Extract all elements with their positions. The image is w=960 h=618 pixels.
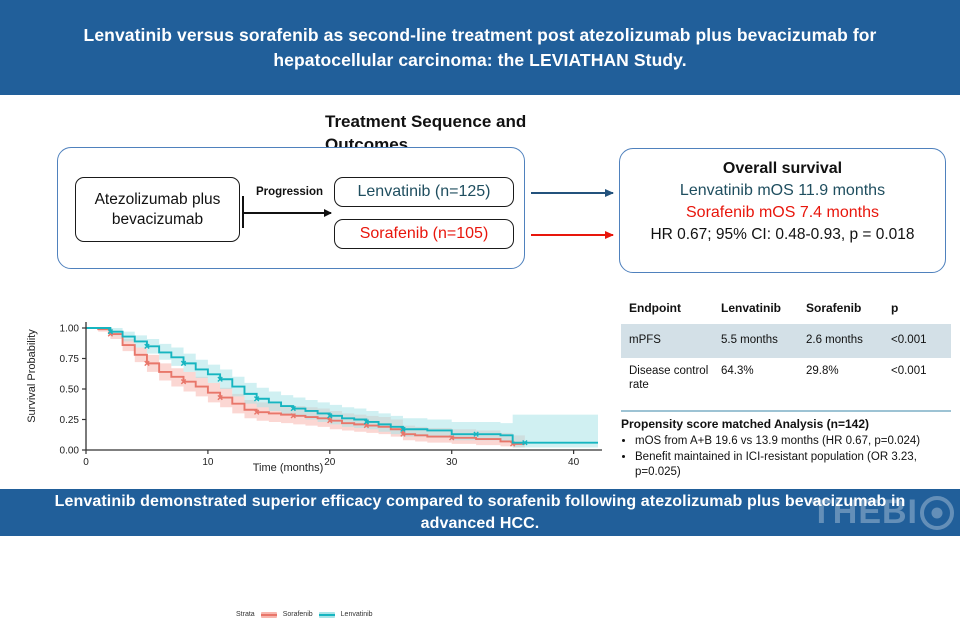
col-header-endpoint: Endpoint (621, 294, 713, 324)
cell-sorafenib: 2.6 months (798, 324, 883, 358)
table-row: Disease control rate 64.3% 29.8% <0.001 (621, 358, 951, 398)
cell-lenvatinib: 64.3% (713, 358, 798, 398)
arm-label-sorafenib: Sorafenib (n=105) (360, 225, 489, 243)
page-title: Lenvatinib versus sorafenib as second-li… (40, 23, 920, 73)
km-plot-svg: 0.000.250.500.751.00010203040 (8, 300, 608, 488)
svg-text:0.25: 0.25 (60, 415, 80, 426)
first-line-label: Atezolizumab plus bevacizumab (76, 190, 239, 230)
svg-text:1.00: 1.00 (60, 324, 80, 335)
os-hazard-ratio: HR 0.67; 95% CI: 0.48-0.93, p = 0.018 (634, 224, 931, 245)
results-table-wrap: Endpoint Lenvatinib Sorafenib p mPFS 5.5… (621, 294, 951, 398)
cell-p: <0.001 (883, 324, 951, 358)
table-row: mPFS 5.5 months 2.6 months <0.001 (621, 324, 951, 358)
propensity-analysis-block: Propensity score matched Analysis (n=142… (621, 416, 957, 481)
propensity-bullet-list: mOS from A+B 19.6 vs 13.9 months (HR 0.6… (621, 434, 957, 480)
os-lenvatinib-value: Lenvatinib mOS 11.9 months (634, 180, 931, 202)
cell-endpoint: Disease control rate (621, 358, 713, 398)
cell-endpoint: mPFS (621, 324, 713, 358)
results-table: Endpoint Lenvatinib Sorafenib p mPFS 5.5… (621, 294, 951, 398)
legend-label-sorafenib: Sorafenib (283, 611, 313, 618)
os-sorafenib-value: Sorafenib mOS 7.4 months (634, 202, 931, 224)
svg-text:0: 0 (83, 457, 89, 468)
progression-label: Progression (247, 186, 332, 198)
svg-text:40: 40 (568, 457, 580, 468)
arm-label-lenvatinib: Lenvatinib (n=125) (358, 183, 491, 201)
cell-lenvatinib: 5.5 months (713, 324, 798, 358)
col-header-p: p (883, 294, 951, 324)
table-header-row: Endpoint Lenvatinib Sorafenib p (621, 294, 951, 324)
svg-text:0.50: 0.50 (60, 385, 80, 396)
legend-swatch-sorafenib (261, 612, 277, 618)
legend-label-lenvatinib: Lenvatinib (341, 611, 373, 618)
kaplan-meier-chart: Strata Sorafenib Lenvatinib 0.000.250.50… (8, 300, 608, 488)
arm-box-sorafenib: Sorafenib (n=105) (334, 219, 514, 249)
arm-box-lenvatinib: Lenvatinib (n=125) (334, 177, 514, 207)
table-bottom-rule (621, 410, 951, 412)
y-axis-label: Survival Probability (26, 306, 38, 446)
slide-canvas: Lenvatinib versus sorafenib as second-li… (0, 0, 960, 536)
conclusion-banner: Lenvatinib demonstrated superior efficac… (0, 489, 960, 536)
svg-text:0.75: 0.75 (60, 354, 80, 365)
overall-survival-title: Overall survival (634, 158, 931, 180)
overall-survival-box: Overall survival Lenvatinib mOS 11.9 mon… (619, 148, 946, 273)
col-header-lenvatinib: Lenvatinib (713, 294, 798, 324)
svg-text:0.00: 0.00 (60, 446, 80, 457)
cell-sorafenib: 29.8% (798, 358, 883, 398)
col-header-sorafenib: Sorafenib (798, 294, 883, 324)
list-item: Benefit maintained in ICI-resistant popu… (635, 450, 957, 480)
list-item: mOS from A+B 19.6 vs 13.9 months (HR 0.6… (635, 434, 957, 449)
title-banner: Lenvatinib versus sorafenib as second-li… (0, 0, 960, 95)
propensity-heading: Propensity score matched Analysis (n=142… (621, 416, 957, 432)
chart-legend: Strata Sorafenib Lenvatinib (236, 611, 373, 618)
cell-p: <0.001 (883, 358, 951, 398)
svg-text:30: 30 (446, 457, 458, 468)
x-axis-label: Time (months) (188, 462, 388, 474)
legend-title: Strata (236, 611, 255, 618)
first-line-box: Atezolizumab plus bevacizumab (75, 177, 240, 242)
legend-swatch-lenvatinib (319, 612, 335, 618)
conclusion-text: Lenvatinib demonstrated superior efficac… (40, 491, 920, 535)
